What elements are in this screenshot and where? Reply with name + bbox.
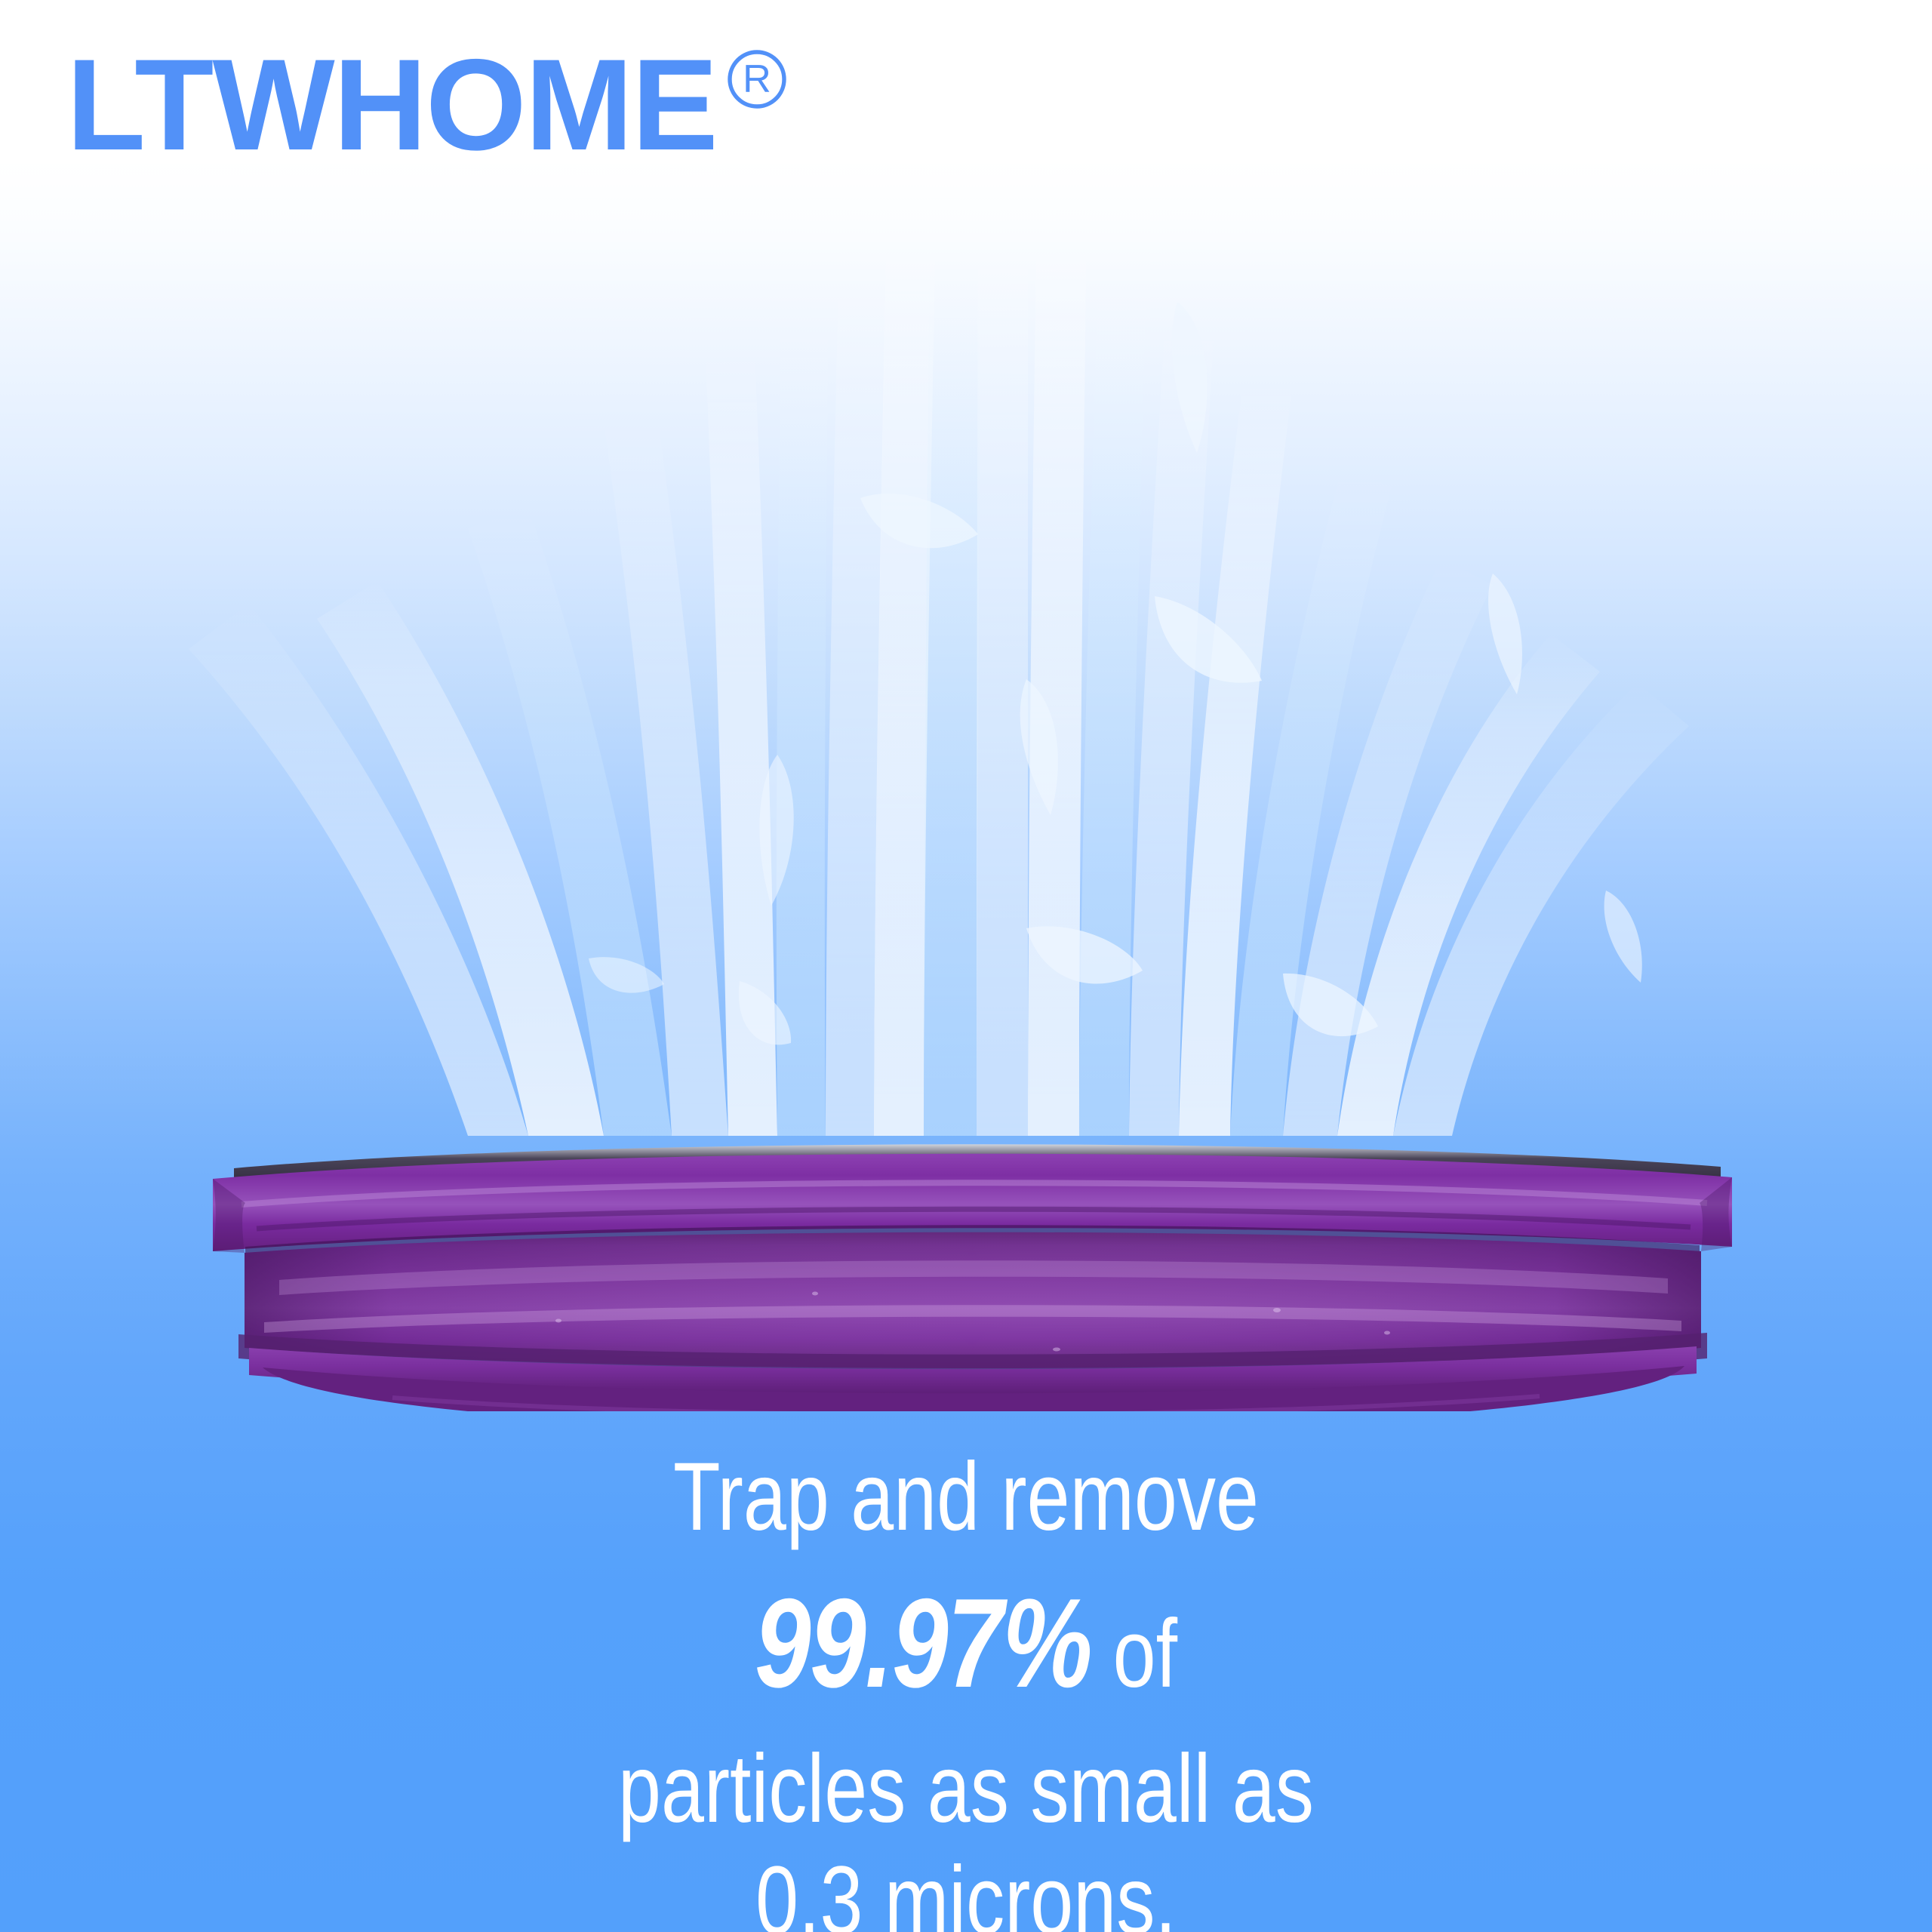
caption-line-1: Trap and remove xyxy=(193,1441,1739,1553)
airflow-streaks xyxy=(189,198,1689,1136)
caption-line-2: 99.97% of xyxy=(193,1553,1739,1734)
registered-trademark-icon: R xyxy=(723,45,791,113)
caption-highlight-value: 99.97% xyxy=(755,1572,1091,1714)
brand-name: LTWHOME xyxy=(66,44,717,167)
product-infographic: LTWHOME R xyxy=(0,0,1932,1932)
air-filter-product xyxy=(166,1132,1777,1411)
caption-of-label: of xyxy=(1091,1600,1177,1708)
caption-line-3: particles as small as xyxy=(193,1734,1739,1845)
brand-logo: LTWHOME R xyxy=(66,44,791,167)
caption-block: Trap and remove 99.97% of particles as s… xyxy=(0,1441,1932,1932)
svg-text:R: R xyxy=(743,57,771,101)
caption-line-4: 0.3 microns. xyxy=(193,1845,1739,1932)
